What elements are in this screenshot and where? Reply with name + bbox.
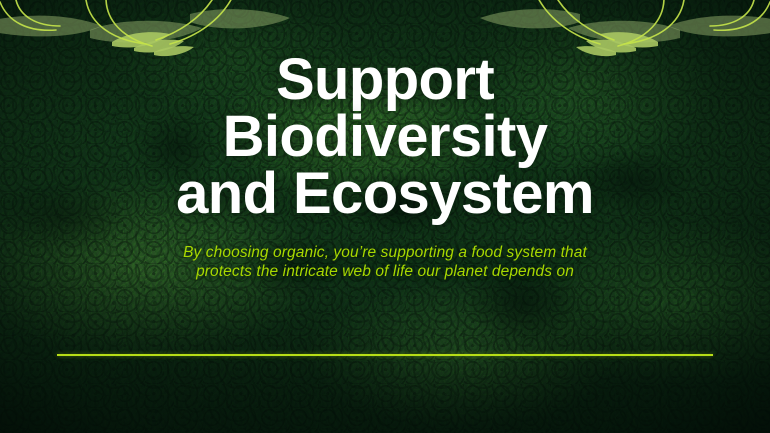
promo-slide: Support Biodiversity and Ecosystem By ch… <box>0 0 770 433</box>
headline-line-3: and Ecosystem <box>176 166 594 223</box>
page-title: Support Biodiversity and Ecosystem <box>176 0 594 222</box>
headline-line-2: Biodiversity <box>176 109 594 166</box>
subtitle-line-2: protects the intricate web of life our p… <box>105 263 665 281</box>
headline-line-1: Support <box>176 52 594 109</box>
subtitle: By choosing organic, you’re supporting a… <box>105 222 665 281</box>
slide-content: Support Biodiversity and Ecosystem By ch… <box>0 0 770 433</box>
subtitle-line-1: By choosing organic, you’re supporting a… <box>105 244 665 262</box>
divider-line <box>57 354 713 356</box>
